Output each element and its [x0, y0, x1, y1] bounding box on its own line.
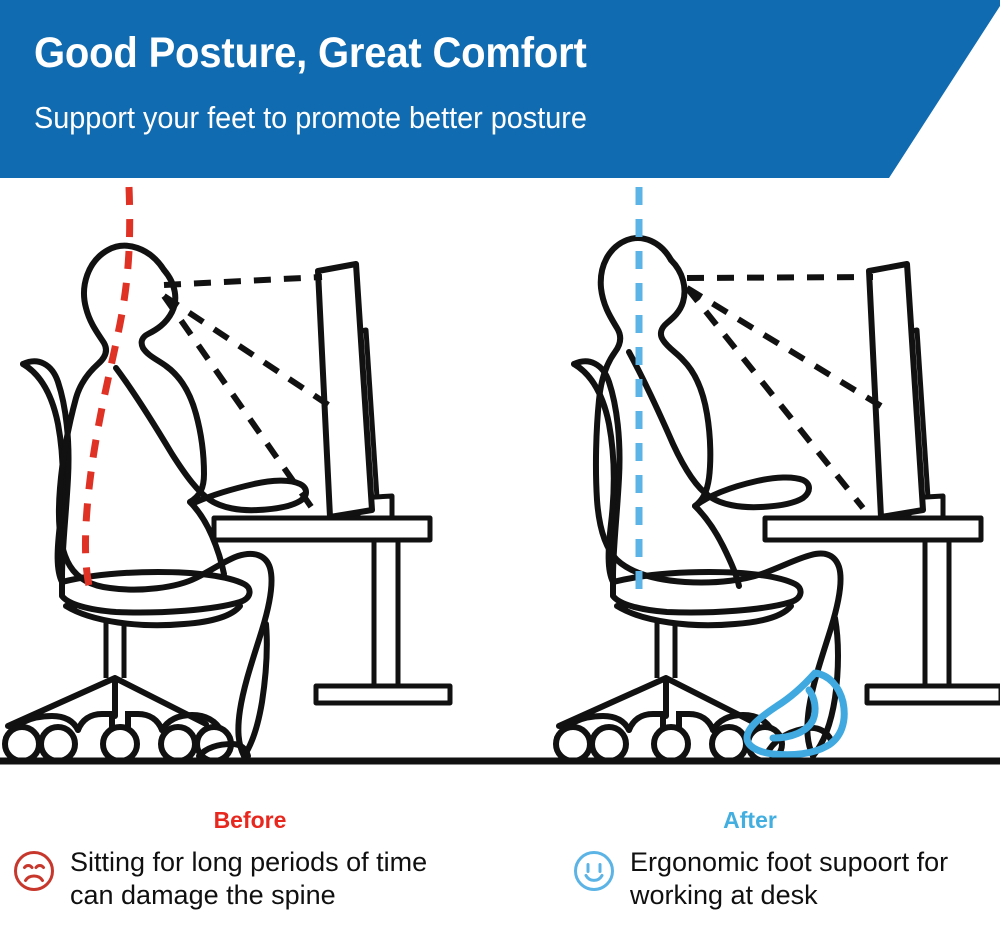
header-banner: Good Posture, Great Comfort Support your…: [0, 0, 1000, 178]
after-heading: After: [500, 790, 1000, 834]
after-scene-group: [556, 187, 1000, 761]
page-title: Good Posture, Great Comfort: [34, 27, 778, 79]
before-caption-column: Before Sitting for long periods of time …: [0, 790, 500, 930]
after-caption-column: After Ergonomic foot supoort for working…: [500, 790, 1000, 930]
after-sight-lines: [687, 277, 881, 508]
sad-face-icon: [12, 849, 56, 893]
after-caption-body: Ergonomic foot supoort for working at de…: [572, 846, 948, 912]
page-subtitle: Support your feet to promote better post…: [34, 99, 778, 137]
before-heading: Before: [0, 790, 500, 834]
before-scene-group: [5, 187, 450, 761]
posture-comparison-illustration: [0, 178, 1000, 773]
before-caption-text: Sitting for long periods of time can dam…: [70, 846, 427, 912]
before-caption-body: Sitting for long periods of time can dam…: [12, 846, 427, 912]
illustration-svg: [0, 178, 1000, 773]
infographic-page: Good Posture, Great Comfort Support your…: [0, 0, 1000, 930]
after-caption-text: Ergonomic foot supoort for working at de…: [630, 846, 948, 912]
header-text-block: Good Posture, Great Comfort Support your…: [34, 27, 834, 137]
happy-face-icon: [572, 849, 616, 893]
after-person-figure: [596, 238, 841, 756]
captions-row: Before Sitting for long periods of time …: [0, 790, 1000, 930]
